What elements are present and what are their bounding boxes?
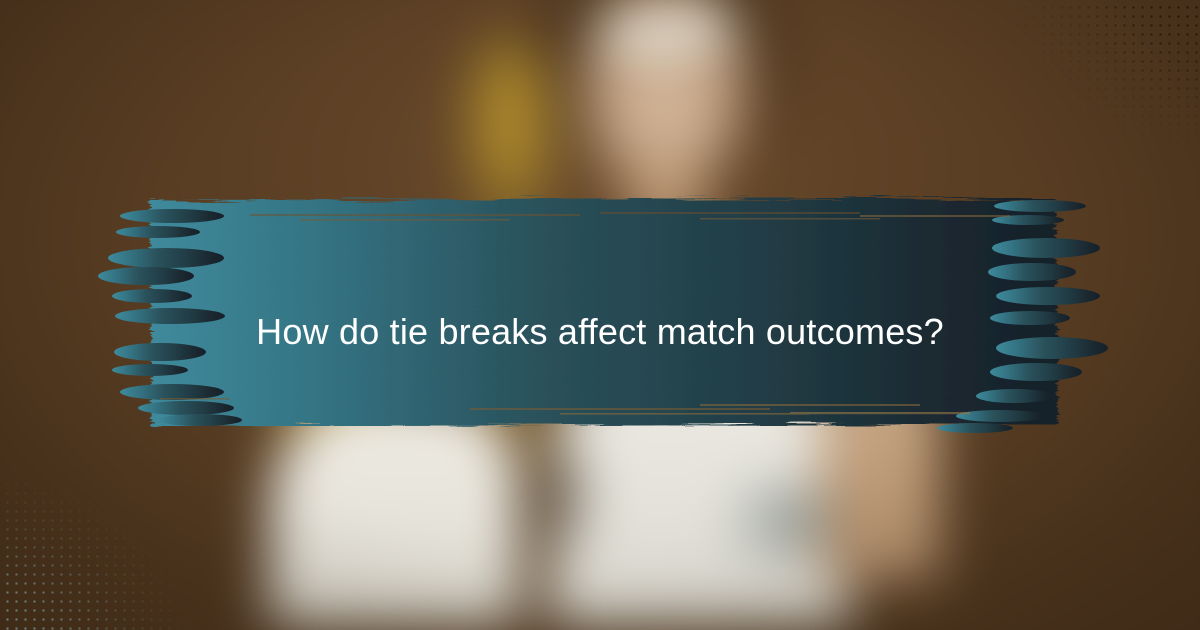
page-title: How do tie breaks affect match outcomes? <box>256 310 944 353</box>
headline-container: How do tie breaks affect match outcomes? <box>0 0 1200 630</box>
title-card: How do tie breaks affect match outcomes? <box>0 0 1200 630</box>
